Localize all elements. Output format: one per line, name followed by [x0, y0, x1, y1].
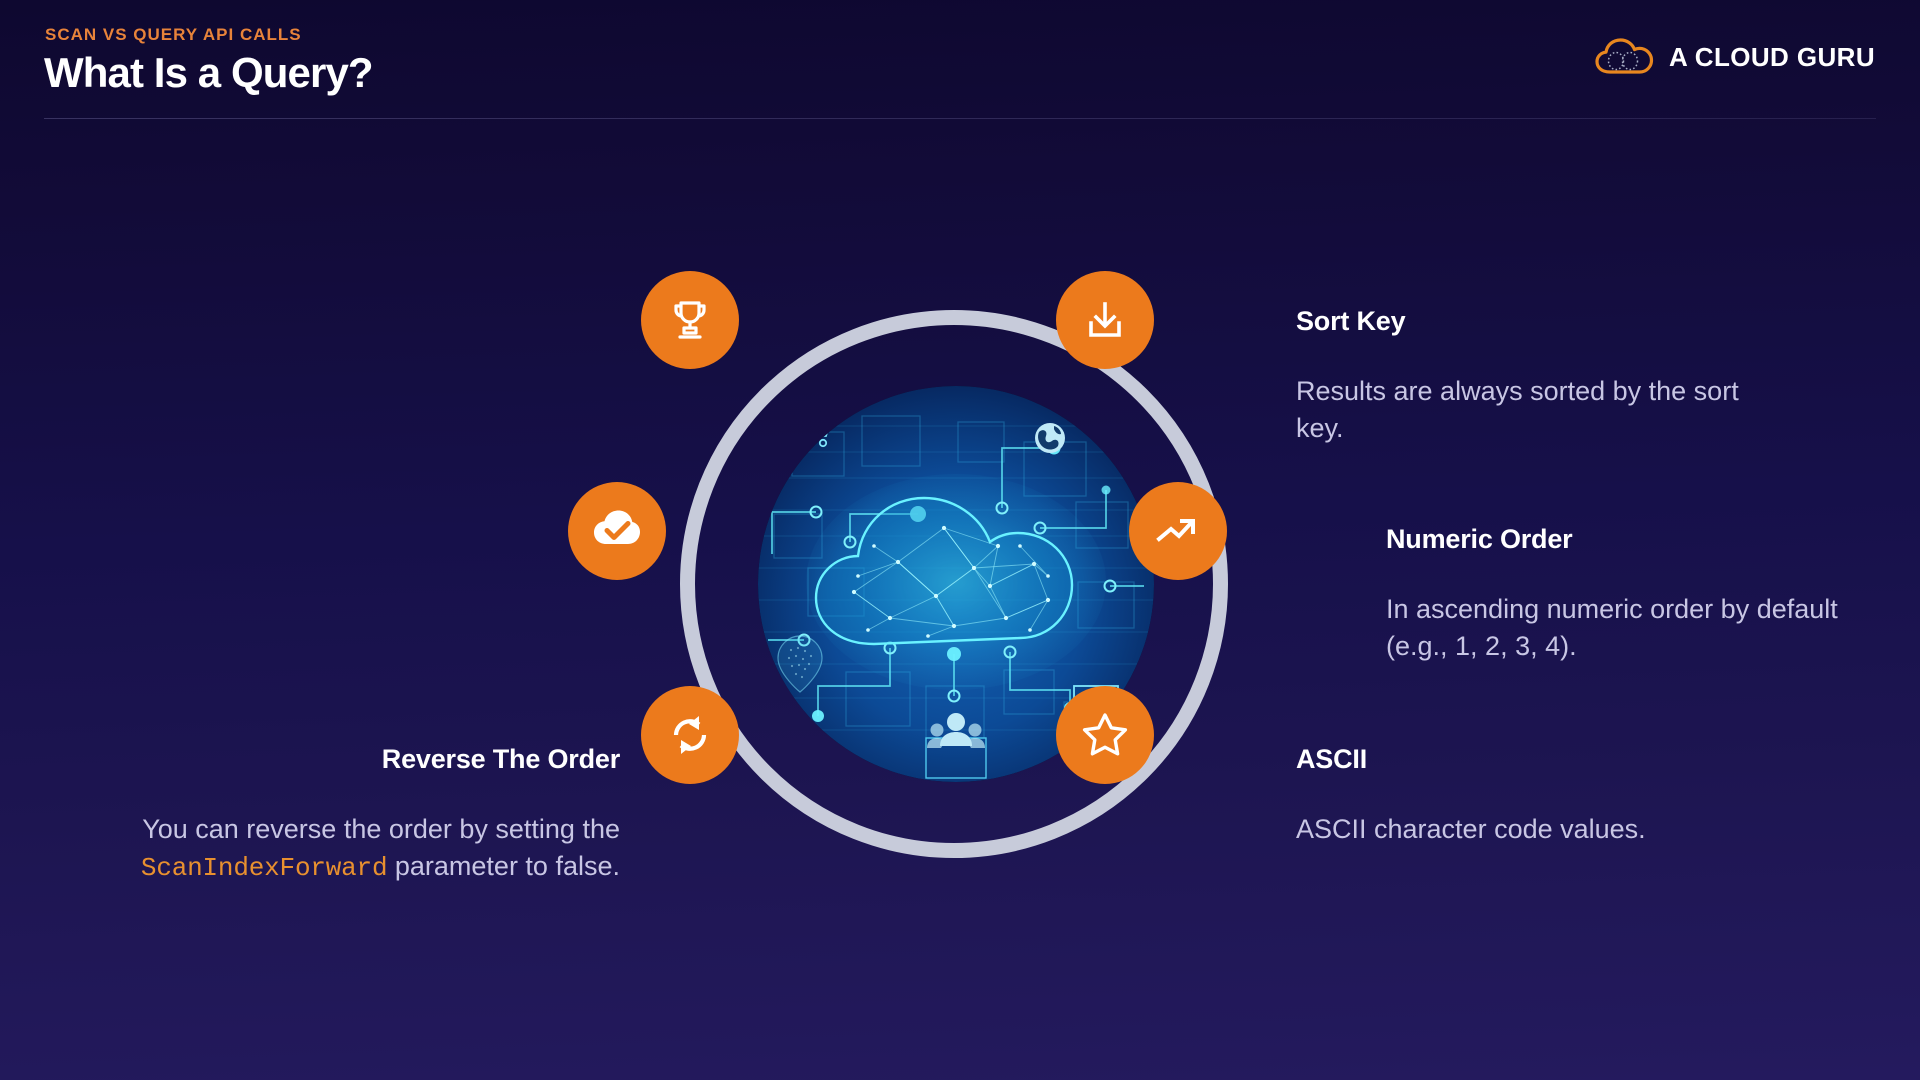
block-body: You can reverse the order by setting the…: [120, 811, 620, 886]
node-sync: [641, 686, 739, 784]
block-title: Sort Key: [1296, 306, 1766, 337]
block-reverse-order: Reverse The Order You can reverse the or…: [120, 744, 620, 886]
page-title: What Is a Query?: [44, 49, 373, 97]
body-text-part1: You can reverse the order by setting the: [142, 814, 620, 844]
node-download: [1056, 271, 1154, 369]
code-token-scanindexforward: ScanIndexForward: [141, 853, 387, 883]
block-numeric-order: Numeric Order In ascending numeric order…: [1386, 524, 1856, 664]
trending-up-icon: [1154, 507, 1202, 555]
node-star: [1056, 686, 1154, 784]
block-title: Numeric Order: [1386, 524, 1856, 555]
block-ascii: ASCII ASCII character code values.: [1296, 744, 1766, 848]
sync-refresh-icon: [666, 711, 714, 759]
block-title: Reverse The Order: [120, 744, 620, 775]
block-body: Results are always sorted by the sort ke…: [1296, 373, 1766, 446]
query-diagram: [610, 272, 1270, 932]
cloud-check-icon: [592, 506, 642, 556]
header-divider: [44, 118, 1876, 119]
eyebrow-label: SCAN VS QUERY API CALLS: [45, 25, 302, 45]
trophy-icon: [667, 297, 713, 343]
body-text-part2: parameter to false.: [387, 851, 620, 881]
node-trophy: [641, 271, 739, 369]
node-cloud-check: [568, 482, 666, 580]
block-body: In ascending numeric order by default (e…: [1386, 591, 1856, 664]
block-body: ASCII character code values.: [1296, 811, 1766, 848]
brand-logo: A CLOUD GURU: [1594, 34, 1875, 80]
download-icon: [1082, 297, 1128, 343]
block-sort-key: Sort Key Results are always sorted by th…: [1296, 306, 1766, 446]
star-icon: [1080, 710, 1130, 760]
brand-name: A CLOUD GURU: [1669, 42, 1875, 73]
cloud-outline-icon: [1594, 37, 1656, 77]
node-trending-up: [1129, 482, 1227, 580]
block-title: ASCII: [1296, 744, 1766, 775]
